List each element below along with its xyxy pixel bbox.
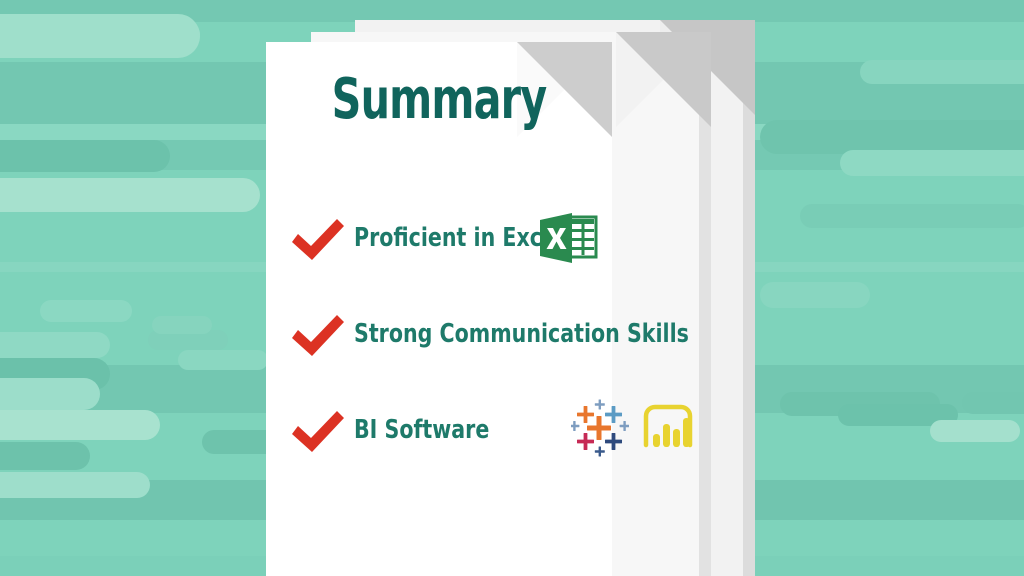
list-item: Proficient in Excel: [266, 205, 696, 301]
slide-canvas: Summary Proficient in Excel: [0, 0, 1024, 576]
bg-pill: [0, 472, 150, 498]
power-bi-icon: [639, 401, 697, 460]
list-item: BI Software: [266, 397, 696, 493]
bg-pill: [930, 420, 1020, 442]
page-fold-middle: [616, 32, 711, 127]
list-item-label: Proficient in Excel: [354, 221, 563, 255]
excel-icon: [538, 211, 598, 270]
bg-pill: [760, 282, 870, 308]
bg-pill: [760, 120, 1024, 154]
bg-pill: [178, 350, 268, 370]
summary-list: Proficient in Excel: [266, 205, 696, 493]
list-item-icons: [538, 211, 598, 270]
bg-pill: [800, 204, 1024, 228]
bg-pill: [0, 410, 160, 440]
bg-pill: [0, 442, 90, 470]
list-item-icons: [571, 399, 697, 462]
check-icon: [290, 313, 346, 363]
bg-pill: [0, 378, 100, 410]
bg-pill: [962, 392, 1024, 414]
bg-pill: [152, 316, 212, 334]
bg-pill: [40, 300, 132, 322]
check-icon: [290, 409, 346, 459]
check-icon: [290, 217, 346, 267]
bg-pill: [860, 60, 1024, 84]
bg-pill: [0, 332, 110, 358]
bg-pill: [0, 14, 200, 58]
list-item-label: Strong Communication Skills: [354, 317, 689, 351]
tableau-icon: [571, 399, 629, 462]
list-item: Strong Communication Skills: [266, 301, 696, 397]
list-item-label: BI Software: [354, 413, 489, 447]
page-title: Summary: [297, 72, 581, 128]
bg-pill: [0, 178, 260, 212]
bg-pill: [0, 140, 170, 172]
bg-pill: [840, 150, 1024, 176]
